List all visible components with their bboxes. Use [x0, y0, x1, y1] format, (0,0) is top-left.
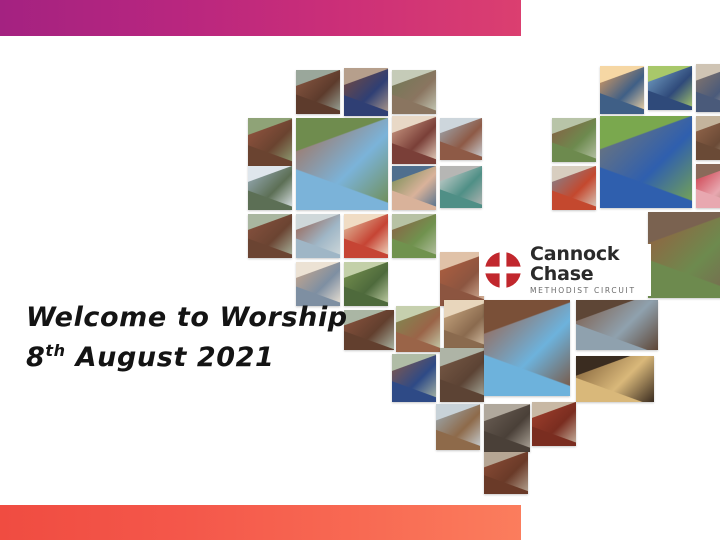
collage-photo: [440, 252, 484, 306]
logo-subtitle: METHODIST CIRCUIT: [530, 285, 651, 297]
collage-photo: [696, 64, 720, 112]
collage-photo: [484, 300, 570, 396]
collage-photo: [344, 68, 388, 116]
collage-photo: [440, 166, 482, 208]
date-rest: August 2021: [66, 342, 275, 373]
date-ordinal: th: [45, 341, 65, 360]
methodist-cross-circle-icon: [483, 250, 523, 290]
collage-photo: [248, 118, 292, 166]
circuit-logo: Cannock Chase METHODIST CIRCUIT: [479, 244, 651, 296]
collage-photo: [484, 404, 530, 452]
collage-photo: [600, 116, 692, 208]
page-title: Welcome to Worship: [26, 298, 356, 338]
logo-name: Cannock Chase: [530, 244, 651, 284]
collage-photo: [248, 214, 292, 258]
collage-photo: [600, 66, 644, 114]
collage-photo: [484, 452, 528, 494]
collage-photo: [440, 348, 484, 402]
collage-photo: [392, 214, 436, 258]
collage-photo: [440, 118, 482, 160]
collage-photo: [444, 300, 488, 352]
collage-photo: [648, 212, 720, 298]
collage-photo: [552, 118, 596, 162]
collage-photo: [552, 166, 596, 210]
collage-photo: [392, 166, 436, 210]
collage-photo: [696, 164, 720, 208]
title-slide: Welcome to Worship 8th August 2021 Canno…: [0, 0, 720, 540]
date-number: 8: [26, 342, 45, 373]
collage-photo: [392, 116, 436, 164]
collage-photo: [576, 356, 654, 402]
collage-photo: [392, 70, 436, 114]
collage-photo: [532, 402, 576, 446]
collage-photo: [576, 300, 658, 350]
title-block: Welcome to Worship 8th August 2021: [26, 298, 356, 378]
collage-photo: [248, 166, 292, 210]
collage-photo: [392, 354, 436, 402]
collage-photo: [436, 404, 480, 450]
collage-photo: [396, 306, 440, 352]
collage-photo: [296, 70, 340, 114]
collage-photo: [296, 118, 388, 210]
logo-text: Cannock Chase METHODIST CIRCUIT: [530, 244, 651, 297]
collage-photo: [696, 116, 720, 160]
collage-photo: [648, 66, 692, 110]
page-subtitle: 8th August 2021: [26, 338, 356, 378]
collage-photo: [344, 214, 388, 258]
collage-photo: [296, 214, 340, 258]
